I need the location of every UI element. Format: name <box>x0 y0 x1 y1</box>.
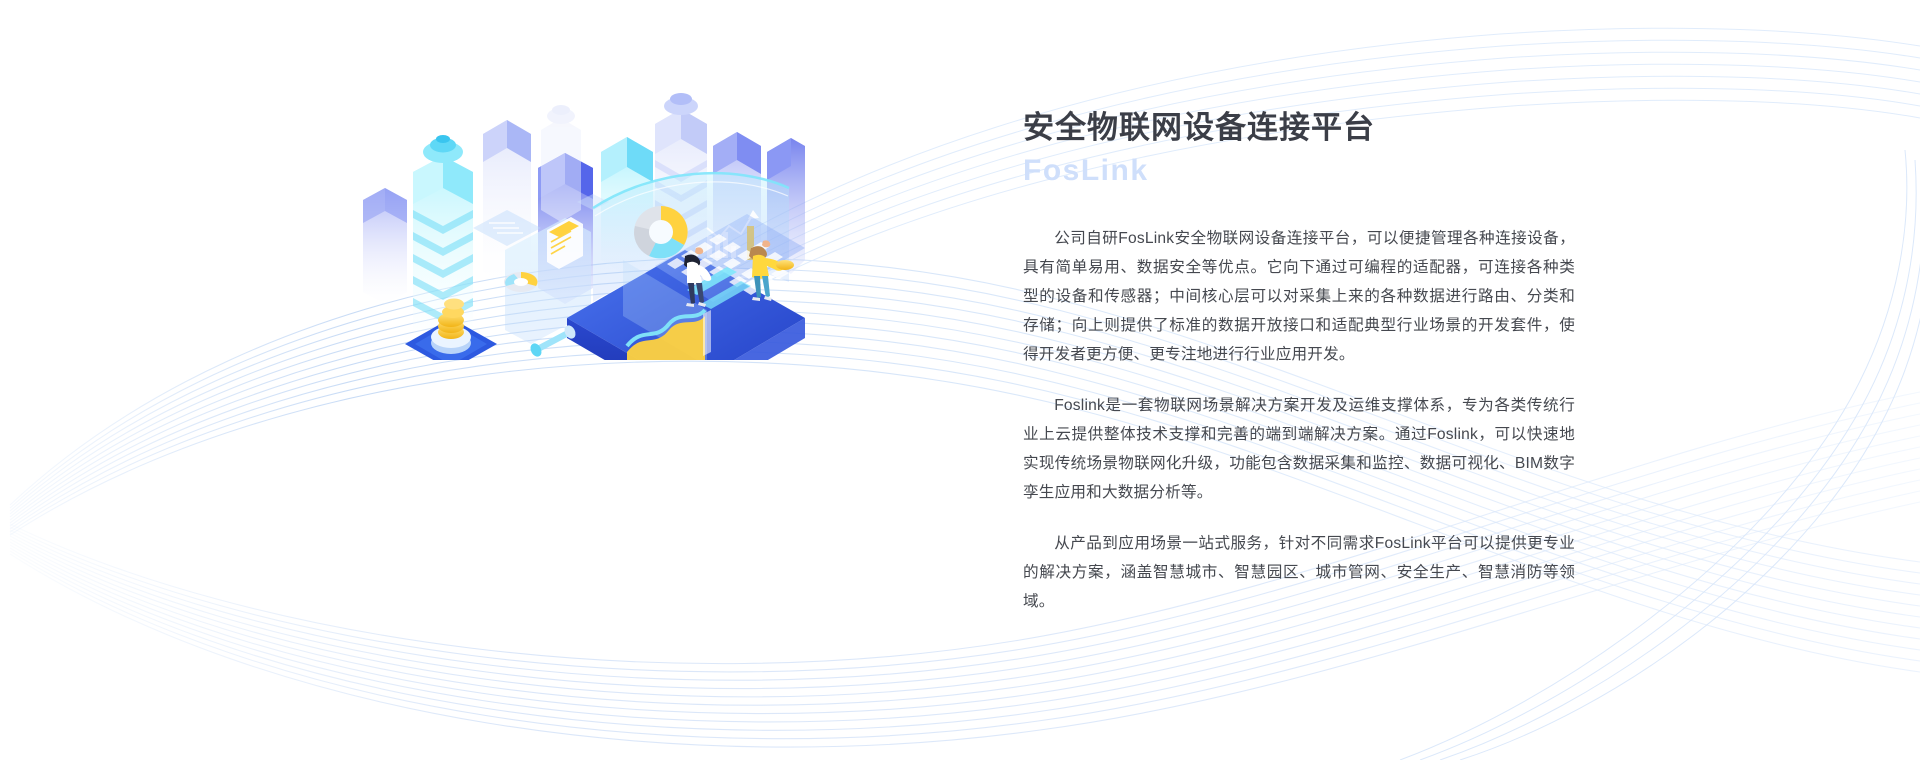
donut-chart-small <box>504 272 538 292</box>
paragraph-3: 从产品到应用场景一站式服务，针对不同需求FosLink平台可以提供更专业的解决方… <box>1023 529 1575 616</box>
building-tower-ghost <box>541 105 581 222</box>
hero-banner: 安全物联网设备连接平台 FosLink 公司自研FosLink安全物联网设备连接… <box>0 0 1920 760</box>
description-body: 公司自研FosLink安全物联网设备连接平台，可以便捷管理各种连接设备，具有简单… <box>1023 224 1575 616</box>
isometric-city-dashboard-illustration <box>355 60 805 360</box>
donut-chart-main <box>634 206 688 258</box>
paragraph-1: 公司自研FosLink安全物联网设备连接平台，可以便捷管理各种连接设备，具有简单… <box>1023 224 1575 369</box>
wave-bundle-upper <box>10 258 1920 672</box>
product-name: FosLink <box>1023 152 1575 190</box>
wave-bundle-lower <box>10 392 1920 747</box>
hero-text-column: 安全物联网设备连接平台 FosLink 公司自研FosLink安全物联网设备连接… <box>1023 108 1575 616</box>
background-wave-lines <box>0 0 1920 760</box>
page-title: 安全物联网设备连接平台 <box>1023 108 1575 148</box>
building-block-1 <box>363 188 407 304</box>
paragraph-2: Foslink是一套物联网场景解决方案开发及运维支撑体系，专为各类传统行业上云提… <box>1023 391 1575 507</box>
